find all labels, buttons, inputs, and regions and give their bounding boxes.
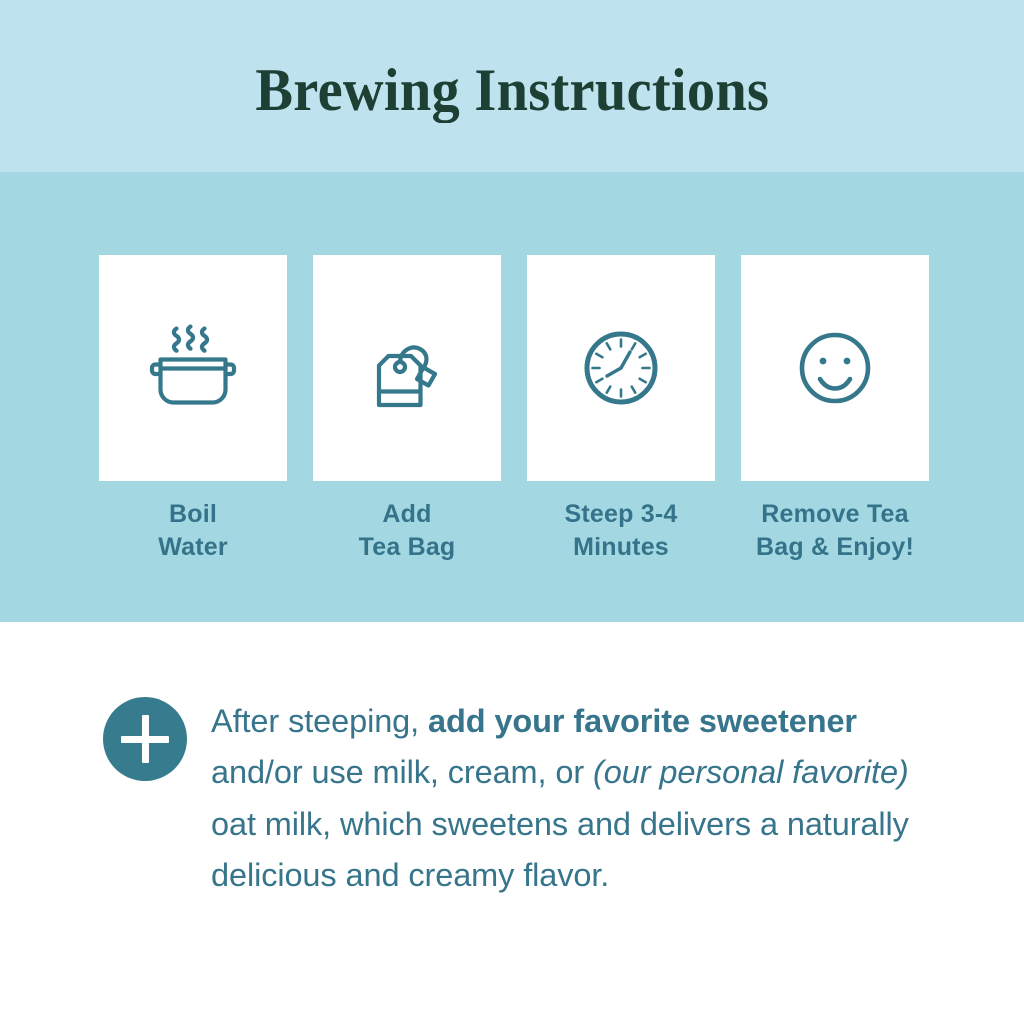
step-steep: Steep 3-4 Minutes [527,255,715,564]
clock-icon [561,308,681,428]
smiley-face-icon [775,308,895,428]
step-label: Remove Tea Bag & Enjoy! [756,498,914,564]
plus-icon-vertical-bar [142,715,149,763]
step-label: Add Tea Bag [359,498,456,564]
note-inner: After steeping, add your favorite sweete… [103,696,911,901]
header-band: Brewing Instructions [0,0,1024,172]
step-add-tea-bag: Add Tea Bag [313,255,501,564]
plus-icon [103,697,187,781]
steps-band: Boil Water [0,172,1024,622]
brewing-instructions-page: Brewing Instructions [0,0,1024,1024]
step-card [527,255,715,481]
note-segment-italic: (our personal favorite) [593,754,909,790]
note-segment-regular-1: After steeping, [211,703,428,739]
tea-bag-icon [347,308,467,428]
page-title: Brewing Instructions [255,60,769,120]
note-section: After steeping, add your favorite sweete… [0,622,1024,1024]
step-card [741,255,929,481]
note-segment-bold: add your favorite sweetener [428,703,857,739]
step-remove-and-enjoy: Remove Tea Bag & Enjoy! [741,255,929,564]
step-boil-water: Boil Water [99,255,287,564]
step-card [313,255,501,481]
step-label: Steep 3-4 Minutes [565,498,678,564]
note-segment-regular-2: and/or use milk, cream, or [211,754,593,790]
note-text: After steeping, add your favorite sweete… [211,696,911,901]
step-label: Boil Water [158,498,228,564]
note-segment-regular-3: oat milk, which sweetens and delivers a … [211,806,909,893]
boiling-pot-icon [133,308,253,428]
steps-row: Boil Water [99,255,927,564]
step-card [99,255,287,481]
